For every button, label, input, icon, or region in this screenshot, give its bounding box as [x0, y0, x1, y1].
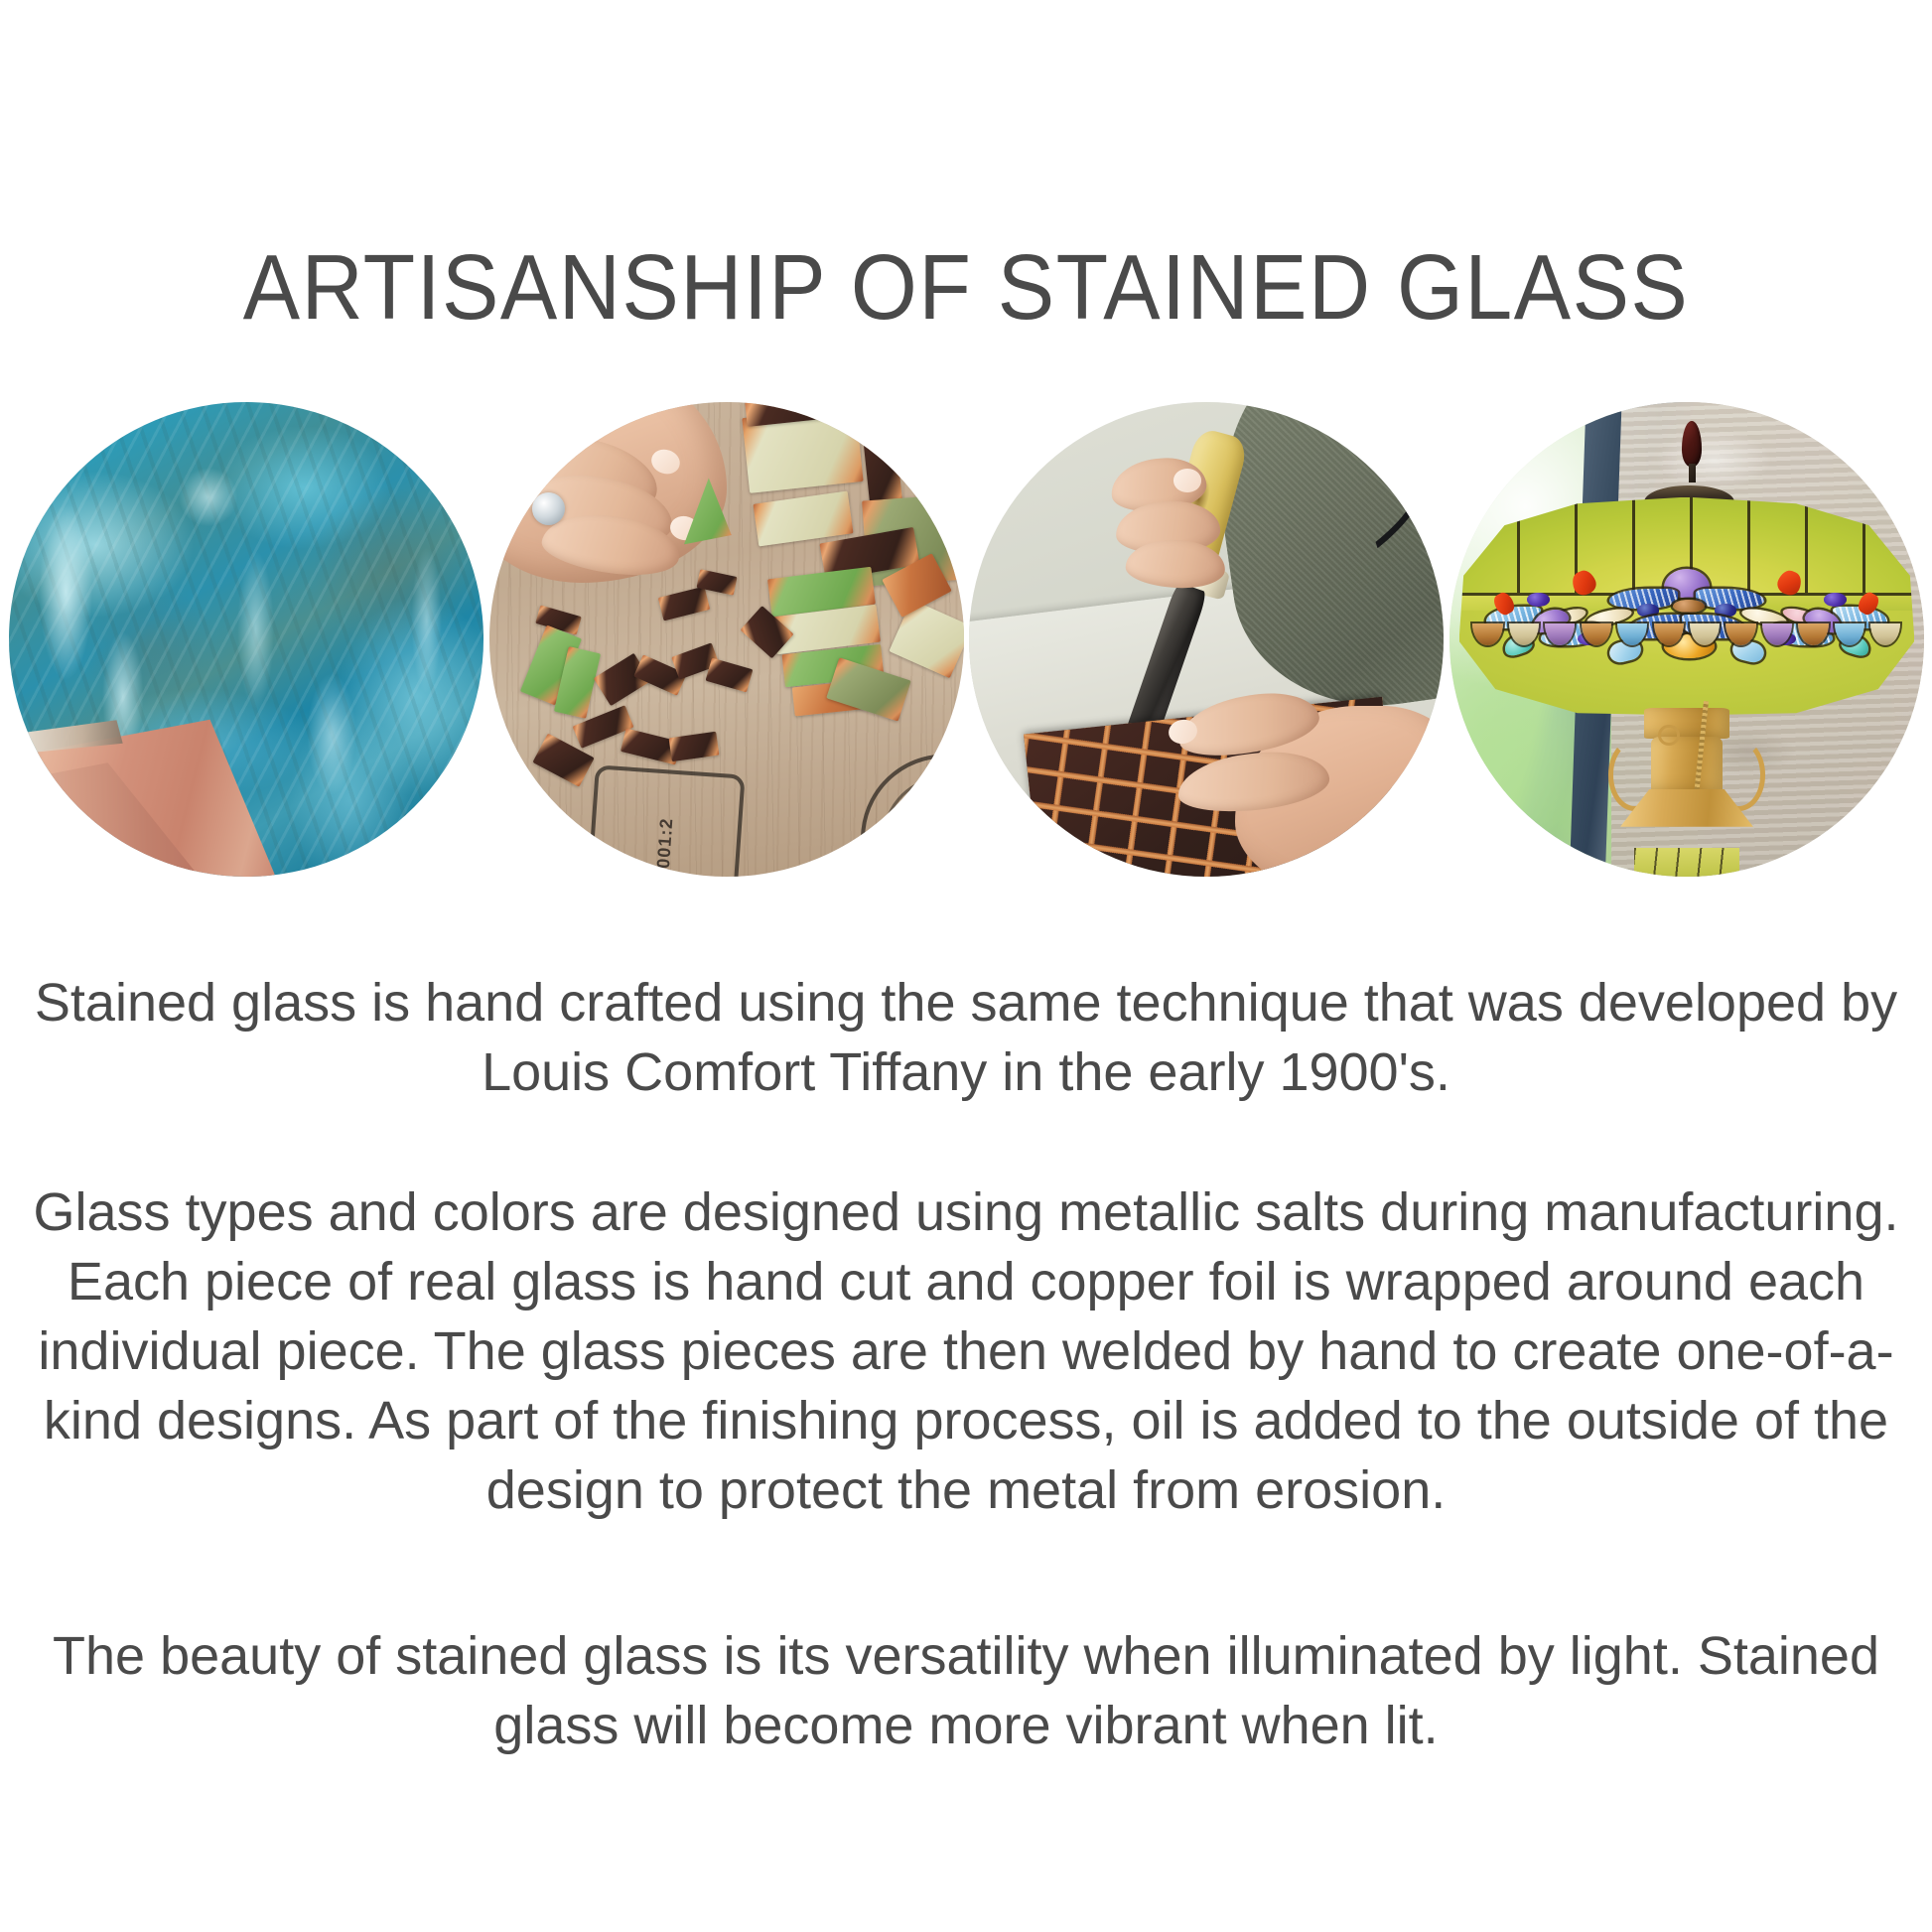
fingernail — [1173, 469, 1202, 492]
skirt-scallop — [1690, 623, 1720, 645]
gallery-image-soldering-copper-foil-grid — [969, 402, 1444, 877]
shade-motif-violet-cabochon — [1527, 593, 1550, 606]
skirt-scallop — [1472, 623, 1502, 645]
lamp-brass-collar — [1644, 708, 1729, 739]
skirt-scallop — [1509, 623, 1539, 645]
paragraph-intro: Stained glass is hand crafted using the … — [20, 968, 1912, 1107]
paragraph-beauty: The beauty of stained glass is its versa… — [20, 1621, 1912, 1760]
paragraph-process: Glass types and colors are designed usin… — [20, 1177, 1912, 1525]
paragraph-text: Glass types and colors are designed usin… — [20, 1177, 1912, 1525]
paragraph-text: The beauty of stained glass is its versa… — [20, 1621, 1912, 1760]
paragraph-text: Stained glass is hand crafted using the … — [20, 968, 1912, 1107]
skirt-scallop — [1870, 623, 1900, 645]
iso-stamp: ISO 9001:2 — [583, 764, 747, 877]
shade-motif-violet-cabochon — [1824, 593, 1847, 606]
skirt-scallop — [1545, 623, 1575, 645]
lamp-base-stained-glass — [1634, 848, 1738, 877]
gallery-image-teal-marbled-glass-sheet — [9, 402, 483, 877]
skirt-scallop — [1835, 623, 1864, 645]
skirt-scallop — [1654, 623, 1684, 645]
stained-glass-lamp-shade — [1459, 497, 1915, 716]
skirt-scallop — [1725, 623, 1755, 645]
lamp-pull-chain-loop — [1658, 725, 1679, 746]
skirt-scallop — [1617, 623, 1647, 645]
gallery-image-copper-foiled-glass-pieces-on-workbench: ISO 9001:2 TY · SUPER QU OP — [489, 402, 964, 877]
skirt-scallop — [1582, 623, 1611, 645]
lamp-finial-neck — [1689, 464, 1696, 483]
skirt-scallop — [1762, 623, 1792, 645]
page-title: ARTISANSHIP OF STAINED GLASS — [0, 236, 1932, 340]
lamp-brass-body — [1651, 737, 1723, 793]
skirt-scallop — [1798, 623, 1828, 645]
image-gallery-row: ISO 9001:2 TY · SUPER QU OP — [0, 402, 1932, 877]
gallery-image-tiffany-stained-glass-lamp — [1449, 402, 1924, 877]
infographic-page: ARTISANSHIP OF STAINED GLASS ISO 9001:2 … — [0, 0, 1932, 1932]
shade-scalloped-skirt — [1472, 623, 1900, 645]
